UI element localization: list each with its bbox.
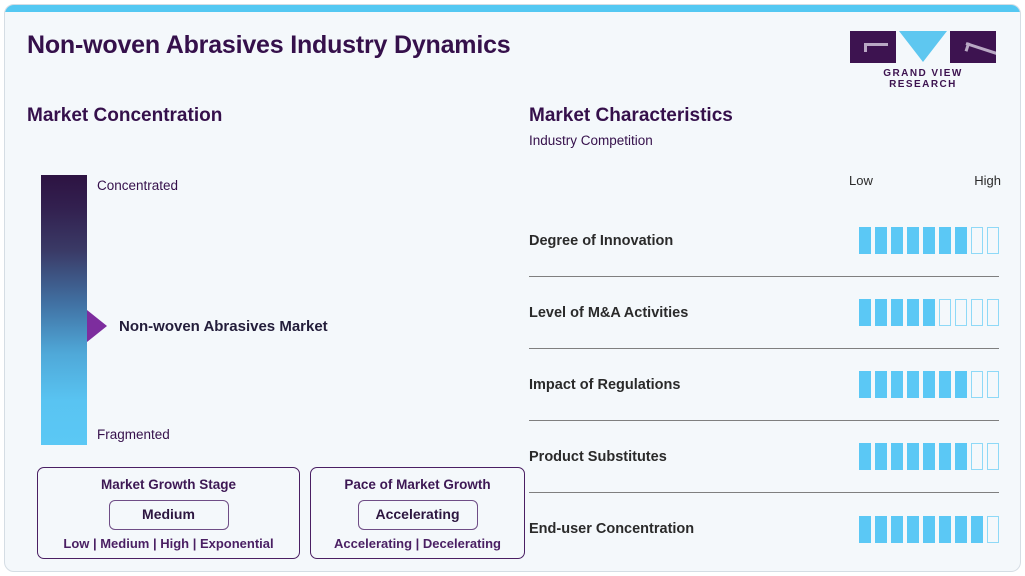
characteristic-label: Degree of Innovation (529, 233, 673, 249)
rating-segment-filled (923, 299, 935, 326)
logo-marks (850, 31, 996, 63)
marker-arrow-icon (87, 310, 107, 342)
rating-segment-empty (987, 299, 999, 326)
rating-segment-filled (971, 516, 983, 543)
rating-segment-empty (971, 299, 983, 326)
concentration-gradient-bar (41, 175, 87, 445)
growth-stage-scale: Low | Medium | High | Exponential (48, 536, 289, 551)
market-characteristics-panel: Market Characteristics Industry Competit… (529, 105, 999, 148)
characteristic-rating-bars (859, 516, 999, 543)
rating-segment-filled (955, 516, 967, 543)
characteristic-row: Level of M&A Activities (529, 277, 999, 349)
market-growth-stage-box: Market Growth Stage Medium Low | Medium … (37, 467, 300, 559)
characteristic-rating-bars (859, 443, 999, 470)
market-characteristics-title: Market Characteristics (529, 105, 999, 127)
characteristic-row: Impact of Regulations (529, 349, 999, 421)
gradient-top-label: Concentrated (97, 178, 178, 193)
rating-segment-empty (987, 443, 999, 470)
scale-header: Low High (849, 173, 1001, 188)
characteristic-label: Impact of Regulations (529, 377, 680, 393)
rating-segment-filled (859, 443, 871, 470)
rating-segment-filled (955, 227, 967, 254)
characteristic-rating-bars (859, 299, 999, 326)
characteristic-row: End-user Concentration (529, 493, 999, 565)
rating-segment-empty (971, 443, 983, 470)
logo-triangle-icon (899, 31, 947, 62)
rating-segment-filled (859, 227, 871, 254)
market-concentration-title: Market Concentration (27, 105, 527, 127)
scale-high-label: High (974, 173, 1001, 188)
characteristic-label: Level of M&A Activities (529, 305, 688, 321)
grand-view-research-logo: GRAND VIEW RESEARCH (850, 31, 996, 90)
page-title: Non-woven Abrasives Industry Dynamics (27, 31, 510, 60)
characteristic-row: Product Substitutes (529, 421, 999, 493)
pace-title: Pace of Market Growth (321, 476, 514, 494)
pace-of-market-growth-box: Pace of Market Growth Accelerating Accel… (310, 467, 525, 559)
logo-notch-vertical (864, 43, 867, 52)
characteristic-label: End-user Concentration (529, 521, 694, 537)
rating-segment-filled (939, 516, 951, 543)
rating-segment-filled (891, 299, 903, 326)
top-accent-bar (5, 5, 1020, 12)
rating-segment-filled (859, 371, 871, 398)
rating-segment-filled (923, 516, 935, 543)
characteristic-label: Product Substitutes (529, 449, 667, 465)
rating-segment-filled (939, 443, 951, 470)
growth-stage-value: Medium (142, 506, 195, 522)
pace-value: Accelerating (375, 506, 459, 522)
logo-notch-horizontal (864, 43, 888, 46)
rating-segment-filled (907, 227, 919, 254)
rating-segment-filled (923, 227, 935, 254)
pace-value-chip: Accelerating (358, 500, 478, 530)
logo-wordmark: GRAND VIEW RESEARCH (850, 68, 996, 90)
market-concentration-panel: Market Concentration Concentrated Fragme… (27, 105, 527, 127)
logo-block-right-icon (950, 31, 996, 63)
pace-scale: Accelerating | Decelerating (321, 536, 514, 551)
rating-segment-empty (955, 299, 967, 326)
rating-segment-filled (875, 299, 887, 326)
market-characteristics-subtitle: Industry Competition (529, 133, 999, 148)
concentration-gradient-group: Concentrated Fragmented Non-woven Abrasi… (41, 175, 87, 445)
rating-segment-filled (923, 371, 935, 398)
rating-segment-filled (955, 443, 967, 470)
rating-segment-filled (875, 371, 887, 398)
growth-stage-title: Market Growth Stage (48, 476, 289, 494)
logo-block-left-icon (850, 31, 896, 63)
rating-segment-filled (891, 443, 903, 470)
market-position-marker: Non-woven Abrasives Market (87, 310, 328, 342)
rating-segment-filled (859, 299, 871, 326)
characteristics-rows: Degree of InnovationLevel of M&A Activit… (529, 205, 999, 565)
characteristic-rating-bars (859, 371, 999, 398)
rating-segment-filled (907, 443, 919, 470)
market-stage-boxes: Market Growth Stage Medium Low | Medium … (37, 467, 525, 559)
rating-segment-filled (875, 227, 887, 254)
rating-segment-filled (891, 516, 903, 543)
rating-segment-empty (971, 227, 983, 254)
rating-segment-empty (939, 299, 951, 326)
rating-segment-filled (875, 516, 887, 543)
rating-segment-filled (907, 516, 919, 543)
characteristic-rating-bars (859, 227, 999, 254)
rating-segment-filled (939, 227, 951, 254)
rating-segment-empty (987, 371, 999, 398)
gradient-bottom-label: Fragmented (97, 427, 170, 442)
logo-notch-diagonal (966, 42, 996, 55)
rating-segment-empty (987, 227, 999, 254)
rating-segment-filled (875, 443, 887, 470)
rating-segment-filled (891, 371, 903, 398)
rating-segment-filled (859, 516, 871, 543)
rating-segment-filled (907, 299, 919, 326)
rating-segment-filled (907, 371, 919, 398)
characteristic-row: Degree of Innovation (529, 205, 999, 277)
growth-stage-value-chip: Medium (109, 500, 229, 530)
scale-low-label: Low (849, 173, 873, 188)
rating-segment-filled (939, 371, 951, 398)
rating-segment-filled (923, 443, 935, 470)
infographic-card: Non-woven Abrasives Industry Dynamics GR… (4, 4, 1021, 572)
rating-segment-filled (891, 227, 903, 254)
rating-segment-empty (987, 516, 999, 543)
rating-segment-empty (971, 371, 983, 398)
rating-segment-filled (955, 371, 967, 398)
marker-label: Non-woven Abrasives Market (119, 318, 328, 335)
